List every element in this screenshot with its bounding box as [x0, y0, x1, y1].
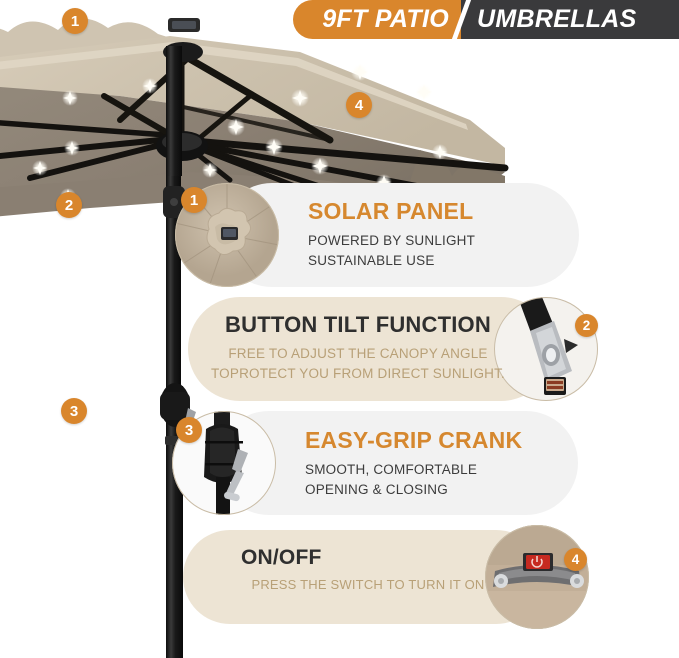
feature-badge-1: 1 — [181, 187, 207, 213]
card-desc-line-2: OPENING & CLOSING — [305, 480, 522, 500]
feature-badge-3: 3 — [176, 417, 202, 443]
feature-card-solar-panel[interactable]: 1 SOLAR PANEL POWERED BY SUNLIGHT SUSTAI… — [175, 183, 579, 287]
card-text-block: BUTTON TILT FUNCTION FREE TO ADJUST THE … — [208, 313, 508, 383]
tilt-photo-art — [494, 297, 598, 401]
banner-title-primary: 9FT PATIO — [322, 5, 449, 34]
photo-badge-3: 3 — [61, 398, 87, 424]
photo-badge-1: 1 — [62, 8, 88, 34]
card-text-block: ON/OFF PRESS THE SWITCH TO TURN IT ON — [223, 546, 513, 595]
photo-badge-4: 4 — [346, 92, 372, 118]
card-desc-line-1: FREE TO ADJUST THE CANOPY ANGLE — [208, 344, 508, 364]
card-text-block: SOLAR PANEL POWERED BY SUNLIGHT SUSTAINA… — [308, 199, 475, 270]
tilt-mechanism-closeup-photo — [494, 297, 598, 401]
card-desc-line-1: SMOOTH, COMFORTABLE — [305, 460, 522, 480]
card-desc-line-1: PRESS THE SWITCH TO TURN IT ON — [223, 576, 513, 595]
feature-badge-2: 2 — [575, 314, 598, 337]
card-desc-line-1: POWERED BY SUNLIGHT — [308, 231, 475, 251]
card-title: EASY-GRIP CRANK — [305, 428, 522, 453]
feature-card-easy-grip-crank[interactable]: 3 EASY-GRIP CRANK SMOOTH, COMFORTABLE OP… — [172, 411, 578, 515]
umbrella-pole-upper — [166, 46, 182, 176]
card-title: SOLAR PANEL — [308, 199, 475, 224]
card-desc-line-2: SUSTAINABLE USE — [308, 251, 475, 271]
photo-badge-2: 2 — [56, 192, 82, 218]
solar-panel-cell — [172, 21, 196, 29]
card-text-block: EASY-GRIP CRANK SMOOTH, COMFORTABLE OPEN… — [305, 428, 522, 499]
banner-orange-section: 9FT PATIO — [293, 0, 461, 39]
card-title: ON/OFF — [223, 546, 513, 569]
feature-card-on-off[interactable]: 4 ON/OFF PRESS THE SWITCH TO TURN IT ON — [183, 530, 589, 624]
banner-title-secondary: UMBRELLAS — [477, 5, 637, 34]
header-banner: 9FT PATIO UMBRELLAS — [293, 0, 679, 39]
card-desc-line-2: TOPROTECT YOU FROM DIRECT SUNLIGHT. — [208, 364, 508, 384]
feature-badge-4: 4 — [564, 548, 587, 571]
banner-dark-section: UMBRELLAS — [461, 0, 679, 39]
card-title: BUTTON TILT FUNCTION — [208, 313, 508, 337]
feature-card-button-tilt[interactable]: 2 BUTTON TILT FUNCTION FREE TO ADJUST TH… — [188, 297, 598, 401]
